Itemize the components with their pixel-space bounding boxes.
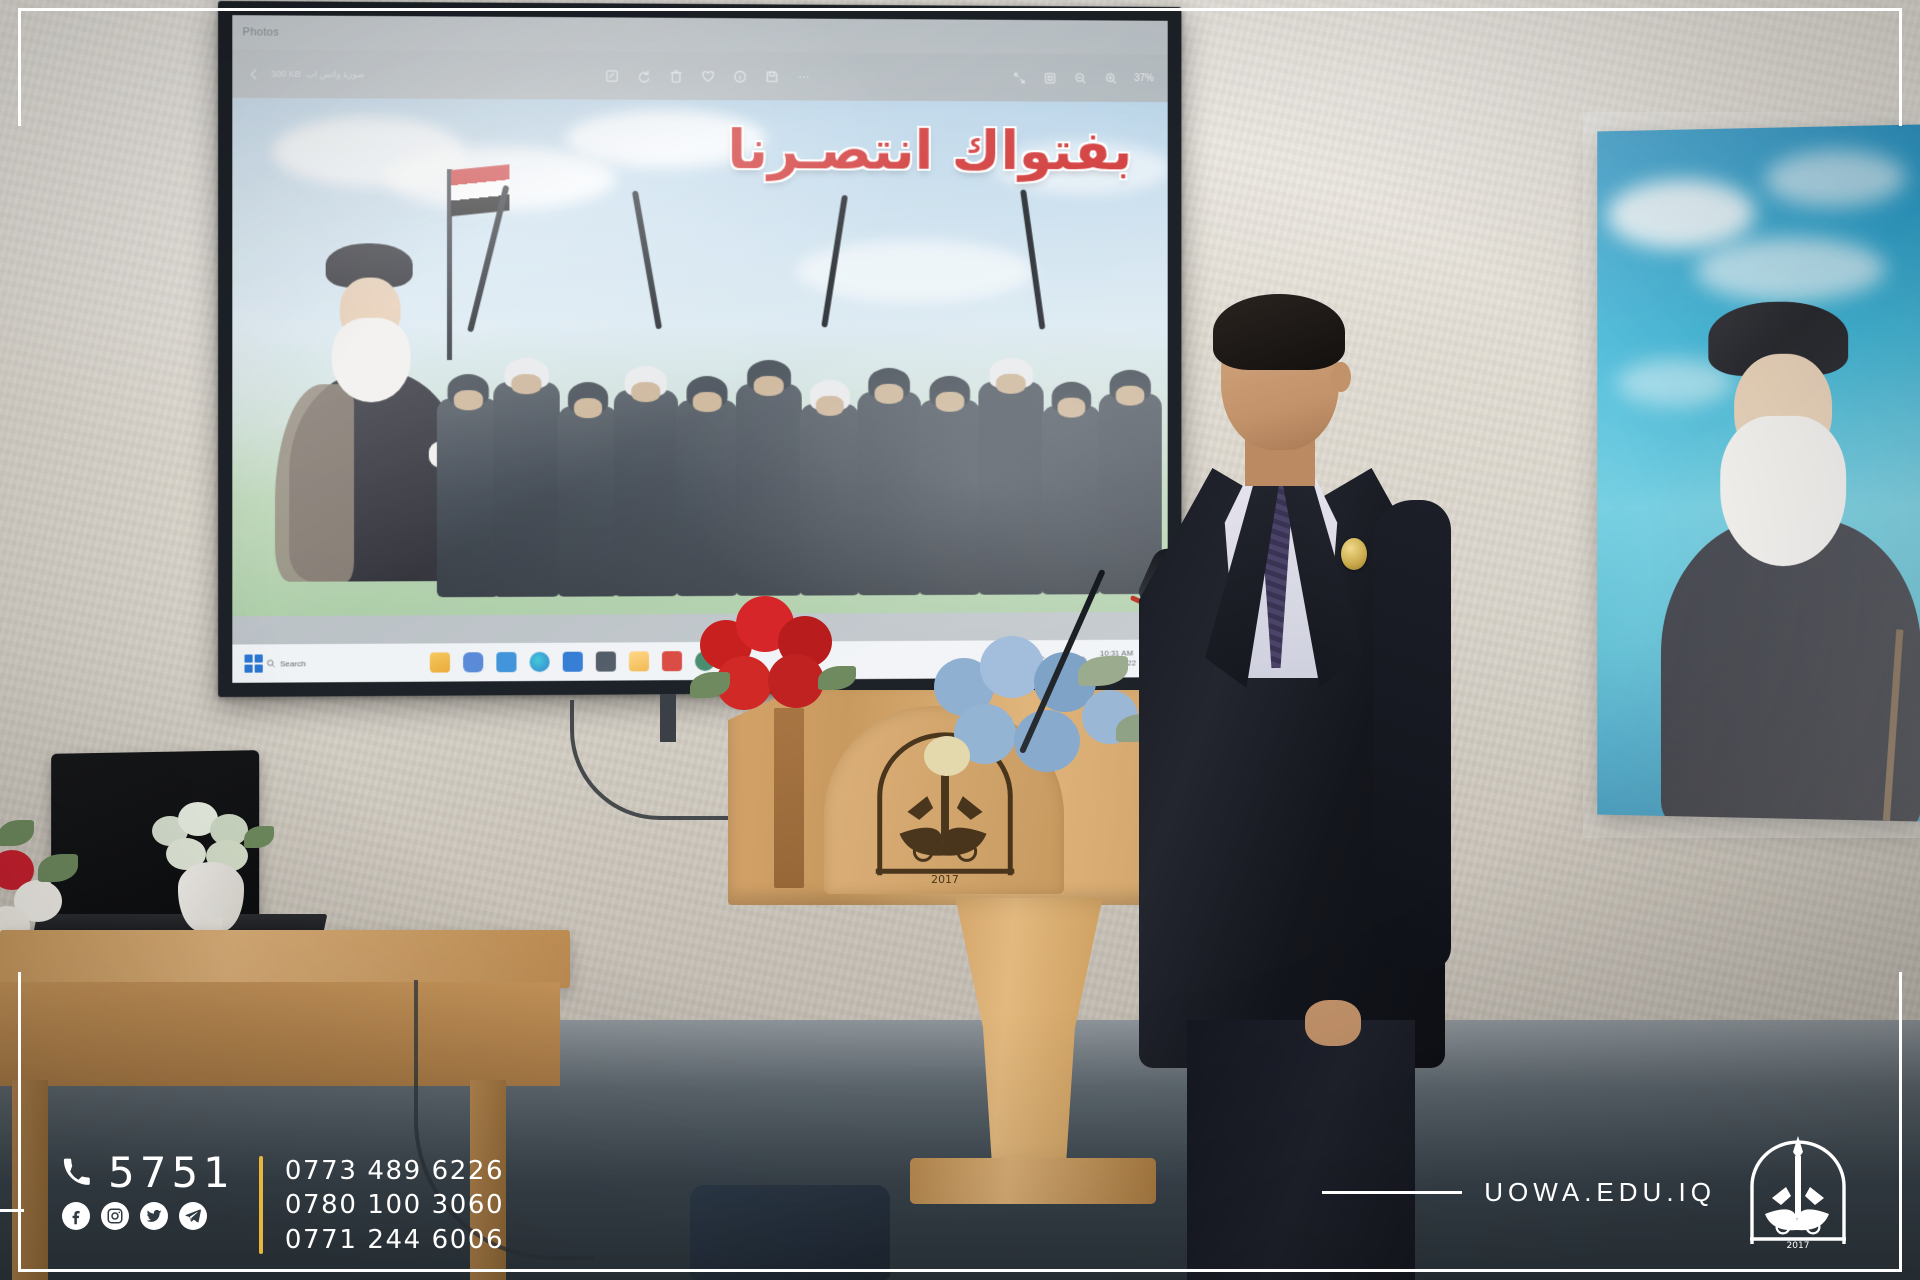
ear — [1331, 362, 1351, 392]
more-options-icon[interactable] — [796, 69, 811, 84]
instagram-icon[interactable] — [101, 1202, 129, 1230]
phone-number: 0771 244 6006 — [285, 1227, 504, 1254]
taskbar-search[interactable]: Search — [266, 658, 306, 668]
zoom-level-label: 37% — [1134, 73, 1154, 84]
photos-app-title: Photos — [242, 26, 279, 38]
favorite-heart-icon[interactable] — [701, 68, 716, 83]
folder-icon[interactable] — [629, 651, 649, 671]
adobe-icon[interactable] — [662, 651, 682, 671]
slide-image: بفتواك انتصـرنا — [232, 98, 1167, 616]
mail-icon[interactable] — [563, 652, 583, 672]
photos-app-toolbar: 300 KB ‏‎ صورة واتس اب — [232, 49, 1167, 102]
right-arm — [1373, 500, 1451, 970]
twitter-icon[interactable] — [140, 1202, 168, 1230]
lapel-pin — [1341, 538, 1367, 570]
slide-soldiers-group — [431, 159, 1060, 597]
photos-app-titlebar: Photos — [232, 15, 1167, 54]
hand — [1305, 1000, 1361, 1046]
camera-icon[interactable] — [596, 651, 616, 671]
fullscreen-icon[interactable] — [1012, 70, 1027, 85]
toolbar-right-group: 37% — [1012, 70, 1154, 86]
phone-number: 0773 489 6226 — [285, 1158, 504, 1185]
back-icon[interactable] — [247, 66, 262, 81]
desk-flowers — [152, 798, 274, 872]
phone-number: 0780 100 3060 — [285, 1192, 504, 1219]
wall-poster — [1597, 124, 1920, 821]
social-links — [62, 1202, 235, 1230]
edge-icon[interactable] — [529, 652, 549, 672]
footer-overlay: 5751 — [0, 1120, 1920, 1280]
phone-number-list: 0773 489 6226 0780 100 3060 0771 244 600… — [285, 1152, 504, 1254]
website-block: UOWA.EDU.IQ 2017 — [1322, 1132, 1858, 1252]
red-flower-bouquet — [690, 590, 860, 730]
store-icon[interactable] — [496, 652, 516, 672]
university-logo: 2017 — [1738, 1132, 1858, 1252]
taskbar-search-label: Search — [280, 659, 306, 668]
website-url: UOWA.EDU.IQ — [1484, 1177, 1716, 1208]
rotate-icon[interactable] — [637, 68, 652, 83]
info-icon[interactable] — [733, 69, 748, 84]
zoom-in-icon[interactable] — [1104, 71, 1119, 86]
search-icon — [266, 658, 276, 668]
short-phone-number: 5751 — [108, 1152, 235, 1194]
start-button-icon[interactable] — [245, 654, 263, 672]
fit-to-window-icon[interactable] — [1043, 70, 1058, 85]
projection-screen-surface: Photos 300 KB ‏‎ صورة واتس اب — [232, 15, 1167, 683]
contact-left-group: 5751 — [62, 1152, 235, 1230]
footer-right-rule — [1322, 1191, 1462, 1194]
svg-text:2017: 2017 — [1787, 1241, 1810, 1251]
telegram-icon[interactable] — [179, 1202, 207, 1230]
phone-icon — [62, 1158, 92, 1188]
event-photograph: Photos 300 KB ‏‎ صورة واتس اب — [0, 0, 1920, 1280]
zoom-out-icon[interactable] — [1073, 70, 1088, 85]
save-icon[interactable] — [765, 69, 780, 84]
file-explorer-icon[interactable] — [430, 652, 450, 672]
footer-left-rule — [0, 1209, 24, 1212]
facebook-icon[interactable] — [62, 1202, 90, 1230]
contact-block: 5751 — [62, 1152, 504, 1254]
delete-icon[interactable] — [669, 68, 684, 83]
toolbar-left-group: 300 KB ‏‎ صورة واتس اب — [247, 66, 365, 82]
chat-icon[interactable] — [463, 652, 483, 672]
poster-cleric-figure — [1631, 296, 1920, 821]
contact-divider — [259, 1156, 263, 1254]
toolbar-actions — [605, 68, 812, 84]
short-number-row: 5751 — [62, 1152, 235, 1194]
svg-text:2017: 2017 — [931, 873, 959, 886]
edit-image-icon[interactable] — [605, 68, 620, 83]
hair — [1213, 294, 1345, 370]
file-info-label: 300 KB ‏‎ صورة واتس اب — [271, 68, 365, 80]
